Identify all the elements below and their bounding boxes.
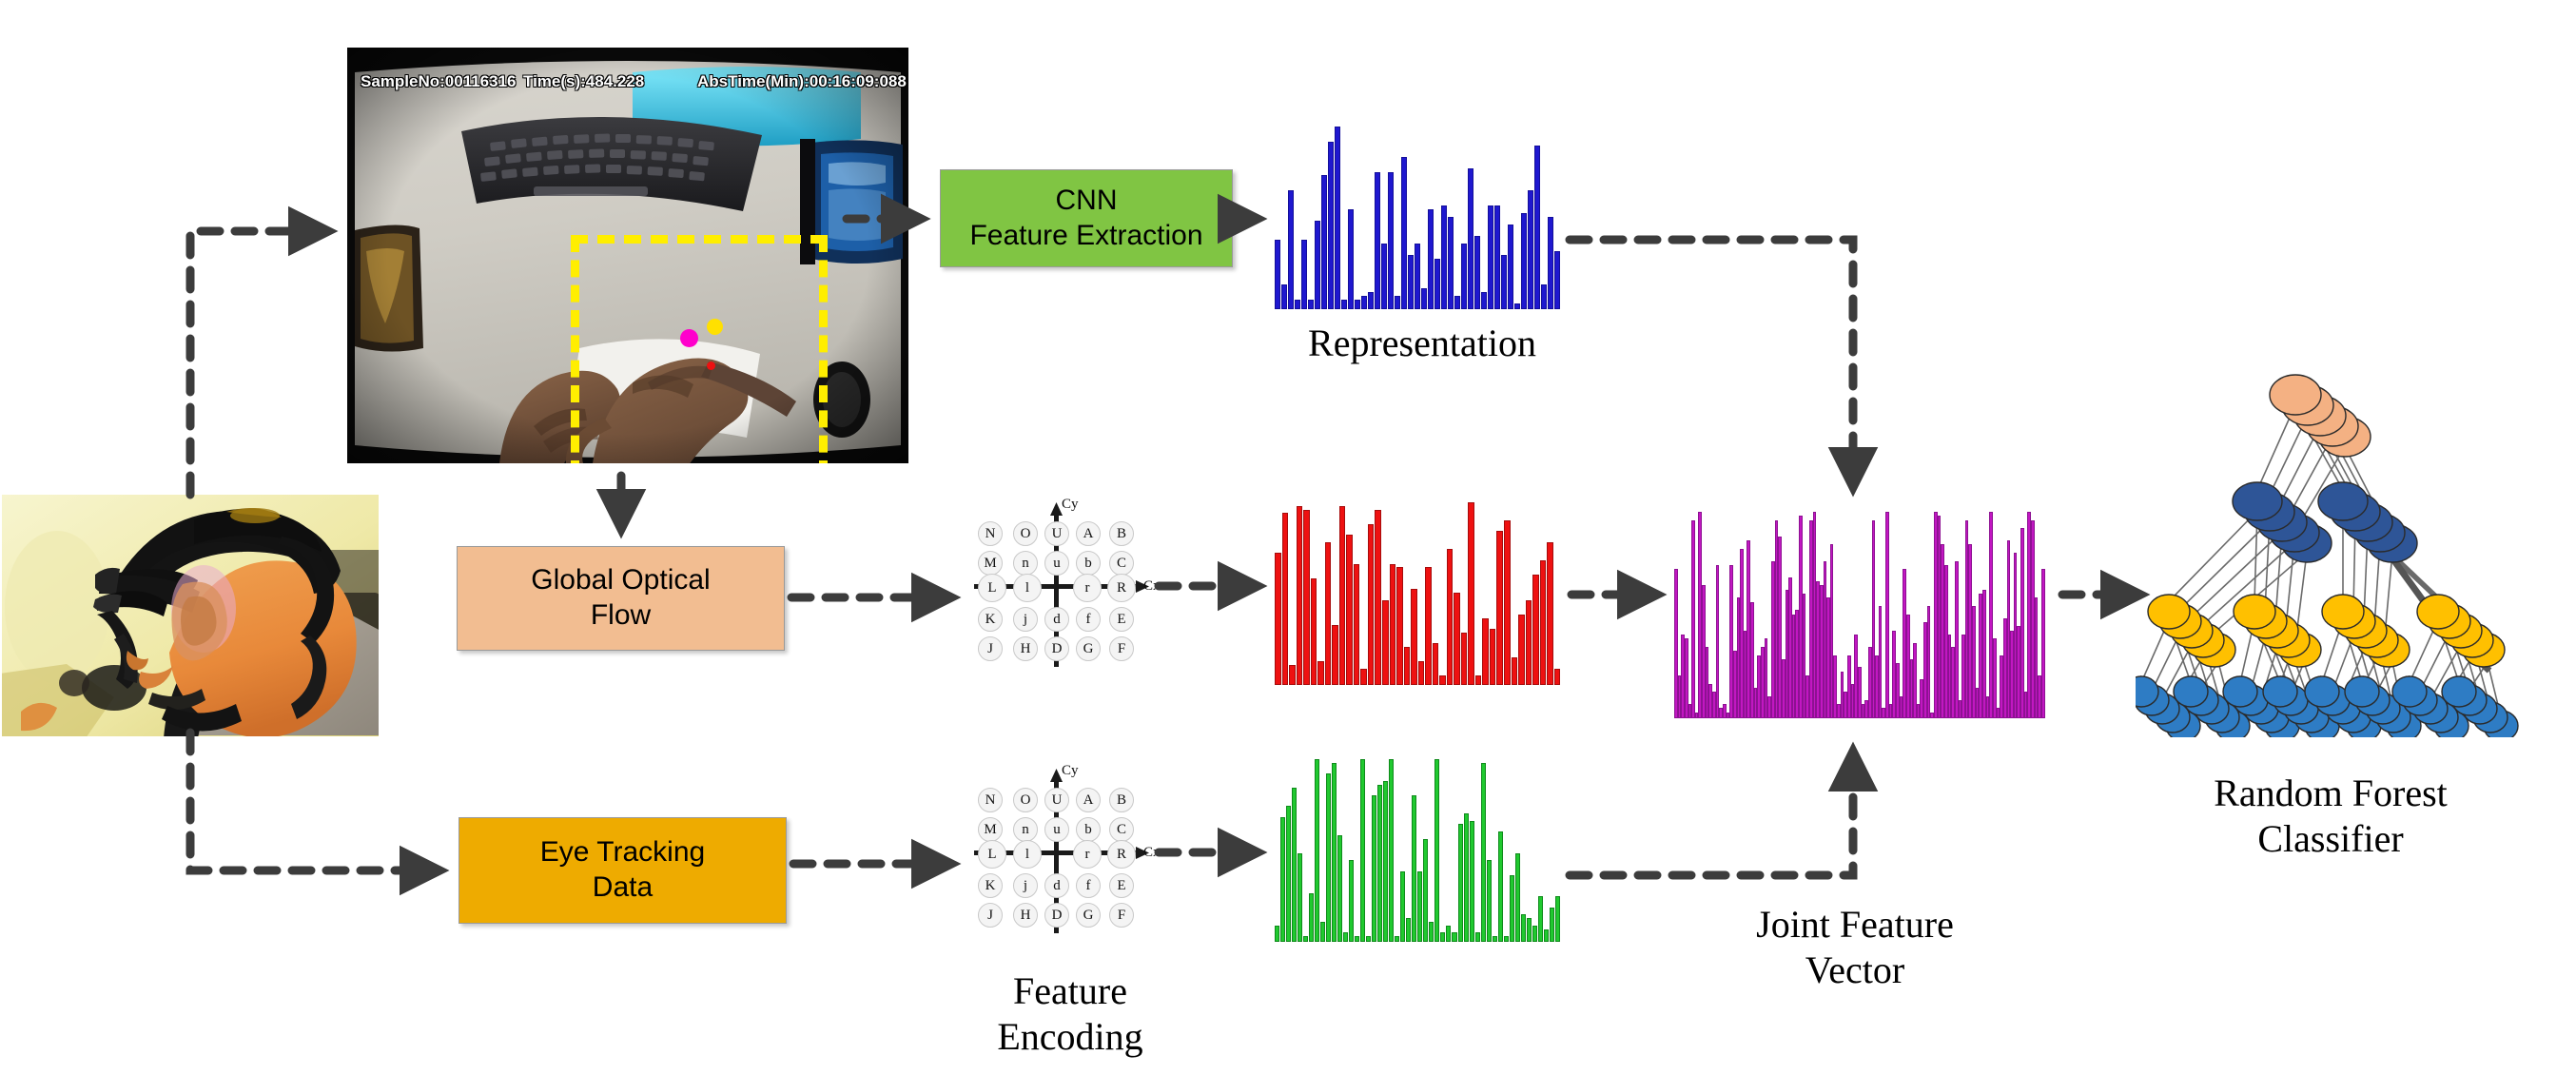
bar bbox=[1433, 643, 1439, 685]
grid-cell: G bbox=[1076, 903, 1101, 928]
grid-cell: r bbox=[1073, 840, 1102, 869]
grid-cell: M bbox=[978, 817, 1003, 842]
bar bbox=[1280, 817, 1285, 942]
bar bbox=[1464, 813, 1469, 942]
bar bbox=[1474, 236, 1480, 309]
bar bbox=[1454, 296, 1460, 309]
forest-edge bbox=[2385, 553, 2392, 635]
bar bbox=[1308, 300, 1314, 309]
bar bbox=[1540, 560, 1547, 685]
bar bbox=[1429, 922, 1434, 942]
bar bbox=[1461, 633, 1468, 685]
grid-cell: H bbox=[1013, 636, 1038, 661]
forest-node-cluster-internal-b bbox=[2322, 595, 2410, 667]
forest-node-cluster-internal-b bbox=[2148, 595, 2235, 667]
bar bbox=[1317, 661, 1324, 685]
bar bbox=[1298, 853, 1302, 942]
bar bbox=[1412, 795, 1416, 942]
bar bbox=[1716, 565, 1720, 718]
arrow-eye-bars-to-joint bbox=[1570, 752, 1853, 875]
grid-cell: L bbox=[978, 840, 1006, 869]
bar bbox=[1415, 244, 1420, 309]
bar bbox=[1275, 553, 1281, 685]
bar bbox=[1383, 781, 1388, 942]
grid-cell: j bbox=[1013, 607, 1038, 632]
representation-caption: Representation bbox=[1265, 321, 1579, 366]
bar bbox=[1510, 875, 1514, 942]
forest-node-cluster-root bbox=[2270, 375, 2371, 457]
bar bbox=[1496, 531, 1503, 685]
grid-axis-x-label: Cx bbox=[1143, 845, 1161, 861]
bar bbox=[1955, 561, 1959, 718]
bar bbox=[1481, 763, 1486, 942]
grid-cell: j bbox=[1013, 873, 1038, 898]
bar bbox=[1508, 225, 1513, 309]
bar bbox=[1879, 606, 1883, 718]
bar bbox=[1368, 292, 1374, 309]
grid-cell: d bbox=[1044, 873, 1069, 898]
joint-feature-vector-caption: Joint Feature Vector bbox=[1693, 902, 2017, 993]
grid-cell: R bbox=[1107, 840, 1136, 869]
bar bbox=[1521, 914, 1526, 942]
eye-tracking-data-box[interactable]: Eye Tracking Data bbox=[459, 817, 787, 924]
bar bbox=[1339, 506, 1346, 685]
bar bbox=[1335, 127, 1340, 309]
bar bbox=[1544, 929, 1549, 942]
bar bbox=[1446, 926, 1451, 942]
joint-feature-vector-bar-chart bbox=[1674, 514, 2045, 718]
bar bbox=[1461, 244, 1467, 309]
global-optical-flow-box[interactable]: Global Optical Flow bbox=[457, 546, 785, 651]
bar bbox=[1315, 759, 1319, 942]
grid-cell: l bbox=[1013, 840, 1042, 869]
grid-cell: K bbox=[978, 873, 1003, 898]
bar bbox=[1320, 922, 1325, 942]
forest-node bbox=[2305, 676, 2339, 707]
bar bbox=[1343, 932, 1348, 942]
grid-cell: l bbox=[1013, 574, 1042, 602]
bar bbox=[1275, 926, 1279, 942]
bar bbox=[1418, 661, 1425, 685]
bar bbox=[1504, 936, 1509, 942]
bar bbox=[1501, 255, 1507, 309]
forest-node-cluster-internal-b bbox=[2417, 595, 2505, 667]
bar bbox=[1332, 763, 1337, 942]
grid-cell: H bbox=[1013, 903, 1038, 928]
grid-cell: E bbox=[1109, 607, 1134, 632]
bar bbox=[1447, 549, 1454, 685]
bar bbox=[1286, 806, 1291, 942]
bar bbox=[1493, 936, 1497, 942]
bar bbox=[1348, 209, 1354, 309]
grid-cell: d bbox=[1044, 607, 1069, 632]
bar bbox=[1301, 240, 1307, 309]
bar bbox=[1281, 284, 1287, 309]
grid-cell: J bbox=[978, 903, 1003, 928]
bar bbox=[1468, 502, 1474, 685]
bar bbox=[1401, 157, 1407, 309]
bar bbox=[1396, 567, 1403, 685]
representation-bar-chart bbox=[1275, 128, 1560, 309]
bar bbox=[1885, 512, 1889, 718]
feature-encoding-caption: Feature Encoding bbox=[927, 968, 1213, 1060]
bar bbox=[1349, 860, 1354, 942]
bar bbox=[1550, 908, 1554, 942]
bar bbox=[1470, 821, 1474, 942]
bar bbox=[1434, 759, 1439, 942]
grid-axis-y-label: Cy bbox=[1062, 497, 1079, 513]
forest-node bbox=[2234, 595, 2275, 629]
grid-cell: f bbox=[1076, 873, 1101, 898]
bar bbox=[1481, 292, 1487, 309]
bar bbox=[1328, 142, 1334, 309]
grid-cell: C bbox=[1109, 551, 1134, 576]
bar bbox=[1375, 510, 1381, 685]
gaze-marker-magenta bbox=[680, 329, 698, 347]
bar bbox=[1341, 300, 1347, 309]
forest-node bbox=[2345, 676, 2379, 707]
bar bbox=[1355, 936, 1359, 942]
bar bbox=[1527, 918, 1532, 942]
bar bbox=[1428, 209, 1434, 309]
bar bbox=[1421, 288, 1427, 309]
bar bbox=[1439, 675, 1446, 685]
bar bbox=[1321, 175, 1327, 309]
bar bbox=[1297, 506, 1303, 685]
bar bbox=[1504, 520, 1511, 685]
bar bbox=[1354, 564, 1360, 685]
bar bbox=[1458, 824, 1463, 942]
bar bbox=[1332, 625, 1338, 685]
bar bbox=[1372, 795, 1376, 942]
bar bbox=[1434, 259, 1440, 309]
bar bbox=[1440, 932, 1445, 942]
bar bbox=[1389, 759, 1394, 942]
bar bbox=[2020, 528, 2024, 718]
forest-node bbox=[2233, 482, 2282, 520]
bar bbox=[1408, 255, 1414, 309]
grid-cell: n bbox=[1013, 551, 1038, 576]
random-forest-diagram bbox=[2136, 357, 2545, 737]
bar bbox=[1366, 936, 1371, 942]
grid-cell: b bbox=[1076, 817, 1101, 842]
bar bbox=[1487, 860, 1492, 942]
video-abs-time: AbsTime(Min):00:16:09:088 bbox=[697, 72, 907, 91]
bar bbox=[1555, 896, 1560, 942]
bar bbox=[1538, 896, 1543, 942]
bar bbox=[1325, 542, 1332, 685]
feature-encoding-grid-eye-tracking: Cy Cx N O U A B M n u b C L l r R K j d … bbox=[970, 769, 1161, 940]
bar bbox=[1400, 871, 1405, 942]
grid-cell: A bbox=[1076, 788, 1101, 812]
bar bbox=[1288, 190, 1294, 309]
grid-cell: A bbox=[1076, 521, 1101, 546]
video-time: Time(s):484.228 bbox=[523, 72, 644, 91]
bar bbox=[1514, 303, 1520, 309]
bar bbox=[1395, 936, 1399, 942]
bar bbox=[1528, 190, 1533, 309]
bar bbox=[1927, 606, 1931, 718]
bar bbox=[1303, 510, 1310, 685]
video-sample-no: SampleNo:00116316 bbox=[361, 72, 517, 91]
forest-node bbox=[2442, 676, 2476, 707]
forest-node bbox=[2322, 595, 2364, 629]
arrow-representation-to-joint bbox=[1570, 240, 1853, 487]
bar bbox=[1515, 853, 1520, 942]
grid-cell: O bbox=[1013, 788, 1038, 812]
grid-cell: F bbox=[1109, 636, 1134, 661]
grid-cell: J bbox=[978, 636, 1003, 661]
grid-cell: B bbox=[1109, 521, 1134, 546]
forest-node bbox=[2392, 676, 2427, 707]
arrow-subject-to-video bbox=[190, 231, 328, 495]
bar bbox=[1282, 513, 1289, 685]
bar bbox=[1315, 221, 1320, 309]
grid-cell: G bbox=[1076, 636, 1101, 661]
region-of-interest-box bbox=[571, 235, 828, 463]
gaze-marker-red bbox=[707, 362, 715, 370]
bar bbox=[1488, 205, 1493, 309]
bar bbox=[1368, 524, 1375, 685]
grid-cell: u bbox=[1044, 817, 1069, 842]
bar bbox=[1295, 300, 1300, 309]
bar bbox=[1404, 647, 1411, 685]
bar bbox=[1532, 575, 1539, 685]
bar bbox=[1547, 542, 1553, 685]
subject-photo bbox=[0, 493, 381, 738]
grid-cell: r bbox=[1073, 574, 1102, 602]
bar bbox=[1346, 535, 1353, 685]
bar bbox=[1377, 785, 1382, 942]
bar bbox=[1423, 839, 1428, 942]
forest-node bbox=[2148, 595, 2190, 629]
grid-cell: N bbox=[978, 788, 1003, 812]
bar bbox=[1360, 759, 1365, 942]
bar bbox=[1518, 615, 1525, 685]
egocentric-video-frame: SampleNo:00116316 Time(s):484.228 AbsTim… bbox=[347, 48, 908, 463]
bar bbox=[1454, 593, 1460, 685]
grid-cell: b bbox=[1076, 551, 1101, 576]
grid-cell: N bbox=[978, 521, 1003, 546]
grid-cell: D bbox=[1044, 636, 1069, 661]
bar bbox=[1490, 629, 1496, 685]
optical-flow-bar-chart bbox=[1275, 504, 1560, 685]
forest-node bbox=[2263, 676, 2297, 707]
bar bbox=[1441, 205, 1447, 309]
grid-cell: f bbox=[1076, 607, 1101, 632]
grid-cell: R bbox=[1107, 574, 1136, 602]
bar bbox=[1303, 936, 1308, 942]
random-forest-caption: Random Forest Classifier bbox=[2140, 771, 2521, 862]
arrow-subject-to-eye-tracking bbox=[190, 733, 439, 870]
forest-node bbox=[2174, 676, 2208, 707]
bar bbox=[1475, 675, 1482, 685]
bar bbox=[1411, 589, 1417, 685]
bar bbox=[1452, 932, 1456, 942]
forest-node bbox=[2318, 482, 2368, 520]
bar bbox=[1406, 918, 1411, 942]
cnn-feature-extraction-box[interactable]: CNN Feature Extraction bbox=[940, 169, 1233, 267]
bar bbox=[1993, 638, 1997, 718]
grid-cell: D bbox=[1044, 903, 1069, 928]
bar bbox=[2041, 569, 2045, 718]
bar bbox=[1326, 773, 1331, 942]
grid-axis-x-label: Cx bbox=[1143, 578, 1161, 595]
forest-edge bbox=[2296, 553, 2307, 635]
bar bbox=[1311, 578, 1317, 685]
bar bbox=[1526, 600, 1532, 685]
grid-axis-y-label: Cy bbox=[1062, 763, 1079, 779]
bar bbox=[1360, 669, 1367, 685]
bar bbox=[1289, 665, 1296, 685]
bar bbox=[1395, 296, 1400, 309]
bar bbox=[1309, 893, 1314, 942]
forest-node bbox=[2270, 375, 2321, 415]
bar bbox=[1554, 251, 1560, 309]
bar bbox=[1337, 835, 1342, 942]
bar bbox=[1448, 217, 1454, 309]
forest-node bbox=[2417, 595, 2459, 629]
grid-cell: U bbox=[1044, 788, 1069, 812]
bar bbox=[1534, 146, 1540, 309]
grid-cell: u bbox=[1044, 551, 1069, 576]
bar bbox=[1355, 300, 1360, 309]
grid-cell: U bbox=[1044, 521, 1069, 546]
bar bbox=[1482, 618, 1489, 685]
grid-cell: n bbox=[1013, 817, 1038, 842]
grid-cell: L bbox=[978, 574, 1006, 602]
grid-cell: E bbox=[1109, 873, 1134, 898]
bar bbox=[1541, 284, 1547, 309]
bar bbox=[1390, 564, 1396, 685]
bar bbox=[1494, 205, 1500, 309]
bar bbox=[1691, 520, 1695, 718]
bar bbox=[1521, 213, 1527, 309]
bar bbox=[1375, 172, 1380, 310]
forest-node bbox=[2223, 676, 2257, 707]
bar bbox=[1417, 871, 1422, 942]
bar bbox=[1361, 296, 1367, 309]
bar bbox=[1381, 244, 1387, 309]
bar bbox=[1512, 657, 1518, 685]
gaze-marker-yellow bbox=[707, 319, 723, 335]
grid-cell: M bbox=[978, 551, 1003, 576]
bar bbox=[1388, 172, 1394, 310]
grid-cell: B bbox=[1109, 788, 1134, 812]
grid-cell: O bbox=[1013, 521, 1038, 546]
forest-node-cluster-internal-a bbox=[2318, 482, 2417, 562]
bar bbox=[1468, 168, 1473, 309]
eye-tracking-bar-chart bbox=[1275, 761, 1560, 942]
bar bbox=[1548, 217, 1553, 309]
bar bbox=[1425, 567, 1432, 685]
grid-cell: C bbox=[1109, 817, 1134, 842]
bar bbox=[1292, 788, 1297, 942]
bar bbox=[1554, 669, 1561, 685]
bar bbox=[1382, 600, 1389, 685]
bar bbox=[1475, 932, 1480, 942]
bar bbox=[1532, 926, 1537, 942]
bar bbox=[1498, 831, 1503, 942]
bar bbox=[1275, 240, 1280, 309]
feature-encoding-grid-optical-flow: Cy Cx N O U A B M n u b C L l r R K j d … bbox=[970, 502, 1161, 674]
grid-cell: F bbox=[1109, 903, 1134, 928]
grid-cell: K bbox=[978, 607, 1003, 632]
